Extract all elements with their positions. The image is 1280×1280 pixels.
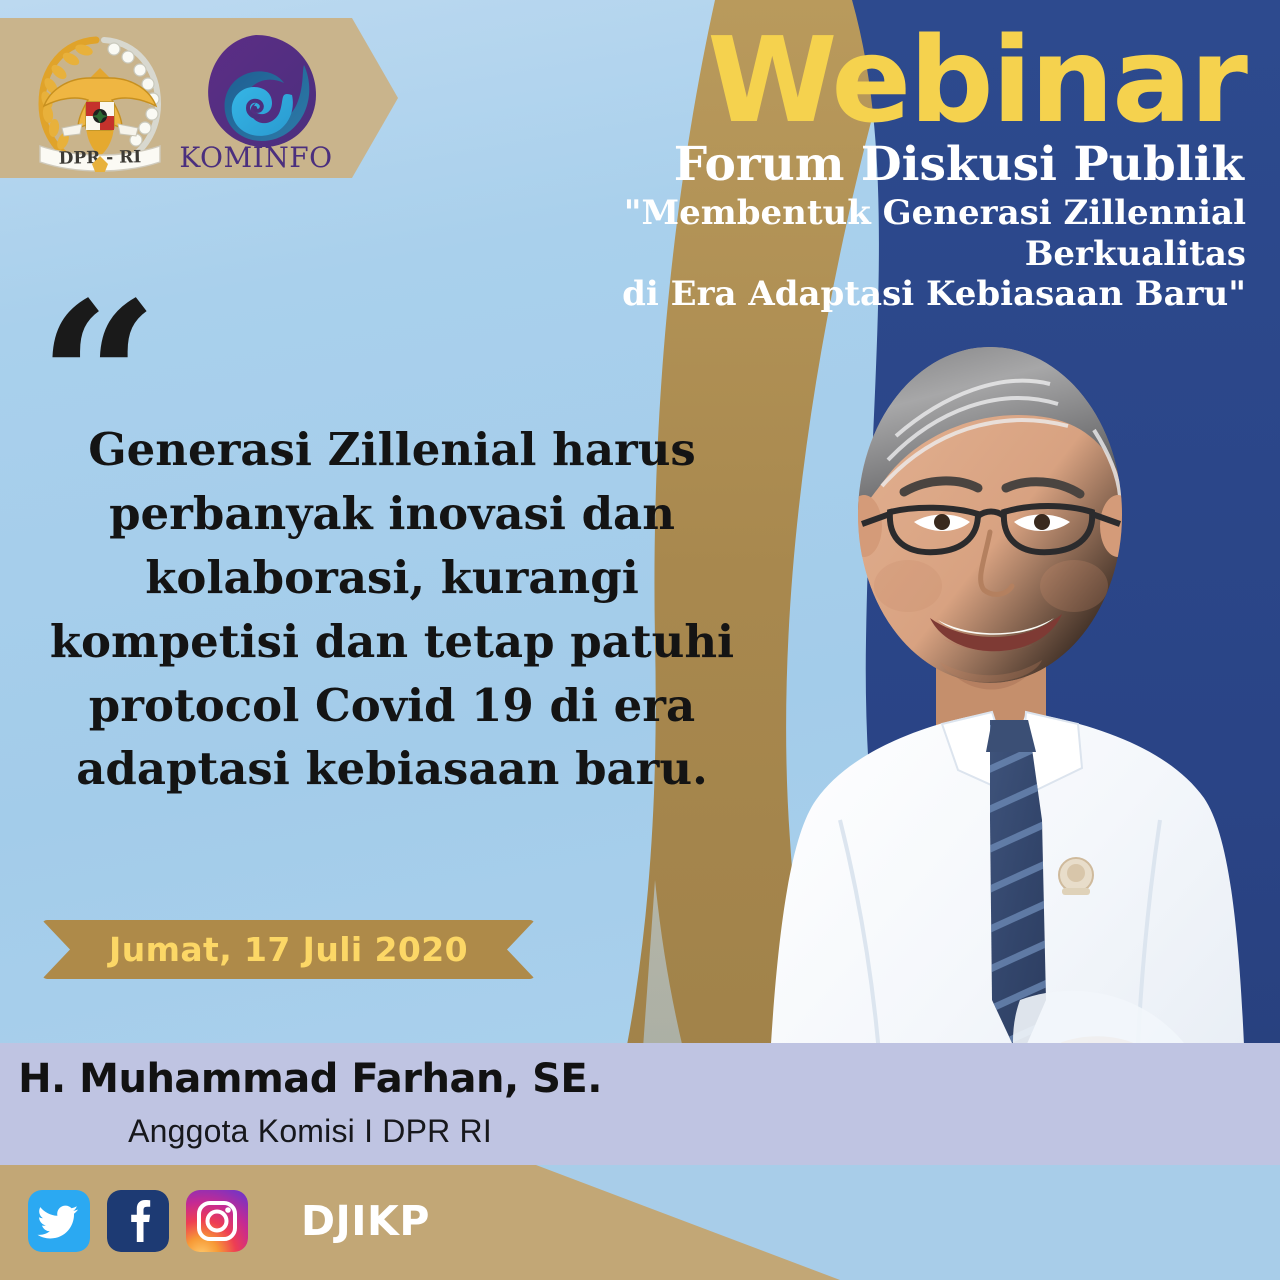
social-links: DJIKP bbox=[28, 1190, 430, 1252]
speaker-role: Anggota Komisi I DPR RI bbox=[0, 1113, 620, 1150]
logo-ribbon: DPR - RI bbox=[0, 18, 398, 178]
header-subtitle: Forum Diskusi Publik bbox=[512, 140, 1252, 191]
webinar-title: Webinar bbox=[512, 24, 1252, 136]
twitter-icon[interactable] bbox=[28, 1190, 90, 1252]
date-ribbon: Jumat, 17 Juli 2020 bbox=[42, 920, 535, 979]
header-theme-line2: di Era Adaptasi Kebiasaan Baru" bbox=[512, 274, 1246, 315]
webinar-poster: DPR - RI bbox=[0, 0, 1280, 1280]
header-theme-line1: "Membentuk Generasi Zillennial Berkualit… bbox=[512, 193, 1246, 275]
kominfo-wordmark: KOMINFO bbox=[180, 141, 332, 171]
dpr-ri-emblem: DPR - RI bbox=[26, 24, 174, 172]
speaker-name: H. Muhammad Farhan, SE. bbox=[0, 1056, 620, 1102]
facebook-icon[interactable] bbox=[107, 1190, 169, 1252]
date-label: Jumat, 17 Juli 2020 bbox=[109, 930, 468, 969]
header-theme: "Membentuk Generasi Zillennial Berkualit… bbox=[512, 193, 1252, 315]
instagram-icon[interactable] bbox=[186, 1190, 248, 1252]
quote-text: Generasi Zillenial harus perbanyak inova… bbox=[36, 418, 748, 801]
header-text-block: Webinar Forum Diskusi Publik "Membentuk … bbox=[512, 24, 1252, 315]
social-handle: DJIKP bbox=[301, 1197, 430, 1245]
kominfo-logo: KOMINFO bbox=[180, 21, 332, 171]
